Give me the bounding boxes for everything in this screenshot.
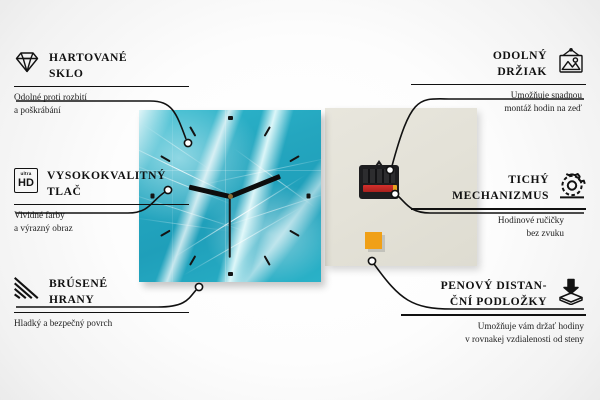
feature-divider bbox=[14, 86, 189, 88]
mechanism-label bbox=[363, 169, 395, 183]
clock-mechanism bbox=[359, 160, 399, 199]
feature-divider bbox=[401, 314, 586, 316]
feature-desc-line2: bez zvuku bbox=[527, 228, 565, 238]
feature-desc-line1: Umožňuje snadnou bbox=[511, 90, 582, 100]
feature-ground-edges: BRÚSENÉ HRANY Hladký a bezpečný povrch bbox=[14, 276, 200, 330]
feature-desc-line1: Hladký a bezpečný povrch bbox=[14, 318, 112, 328]
feature-desc-line1: Umožňuje vám držať hodiny bbox=[478, 321, 584, 331]
feature-title-line1: ODOLNÝ bbox=[493, 49, 547, 62]
ultra-hd-icon: ultra HD bbox=[14, 168, 38, 193]
feature-durable-holder: ODOLNÝ DRŽIAK Umožňuje snadnou montáž h bbox=[400, 48, 586, 115]
product-infographic: HARTOVANÉ SKLO Odolné proti rozbití a po… bbox=[0, 0, 600, 400]
feature-title-line2: DRŽIAK bbox=[497, 65, 547, 78]
press-down-layers-icon bbox=[556, 278, 586, 310]
feature-desc-line2: montáž hodin na zeď bbox=[504, 103, 582, 113]
feature-title-line1: PENOVÝ DISTAN- bbox=[441, 279, 547, 292]
feature-divider bbox=[411, 84, 586, 86]
feature-divider bbox=[411, 208, 586, 210]
clock-second-hand bbox=[229, 196, 231, 258]
battery bbox=[363, 185, 394, 192]
feature-divider bbox=[14, 312, 189, 314]
diamond-icon bbox=[14, 50, 40, 79]
feature-title-line1: HARTOVANÉ bbox=[49, 51, 127, 64]
feature-foam-spacers: PENOVÝ DISTAN- ČNÍ PODLOŽKY Umožňuje vám… bbox=[396, 278, 586, 346]
feature-desc-line2: v rovnakej vzdialenosti od steny bbox=[465, 334, 584, 344]
foam-spacer-pad bbox=[365, 232, 382, 249]
feature-title-line2: ČNÍ PODLOŽKY bbox=[450, 295, 547, 308]
feature-desc-line1: Hodinové ručičky bbox=[498, 215, 564, 225]
feature-title-line2: TLAČ bbox=[47, 185, 81, 198]
feature-title-line1: TICHÝ bbox=[508, 173, 549, 186]
beveled-edge-icon bbox=[14, 276, 40, 305]
feature-desc-line2: a poškrábání bbox=[14, 105, 61, 115]
gear-icon bbox=[558, 172, 586, 204]
feature-high-quality-print: ultra HD VYSOKOKVALITNÝ TLAČ Vividné far… bbox=[14, 168, 200, 235]
framed-picture-hanger-icon bbox=[556, 48, 586, 79]
clock-center-hub bbox=[228, 194, 233, 199]
feature-title-line2: HRANY bbox=[49, 293, 94, 306]
ultra-hd-large-text: HD bbox=[18, 178, 34, 189]
feature-tempered-glass: HARTOVANÉ SKLO Odolné proti rozbití a po… bbox=[14, 50, 200, 117]
feature-title-line2: MECHANIZMUS bbox=[452, 189, 549, 202]
feature-title-line2: SKLO bbox=[49, 67, 83, 80]
feature-title-line1: BRÚSENÉ bbox=[49, 277, 108, 290]
feature-title-line1: VYSOKOKVALITNÝ bbox=[47, 169, 166, 182]
feature-desc-line2: a výrazný obraz bbox=[14, 223, 73, 233]
feature-desc-line1: Vividné farby bbox=[14, 210, 65, 220]
feature-divider bbox=[14, 204, 189, 206]
feature-desc-line1: Odolné proti rozbití bbox=[14, 92, 87, 102]
feature-silent-mechanism: TICHÝ MECHANIZMUS Hodinové ručičky bez z… bbox=[400, 172, 586, 240]
battery-positive-tip bbox=[393, 185, 397, 192]
